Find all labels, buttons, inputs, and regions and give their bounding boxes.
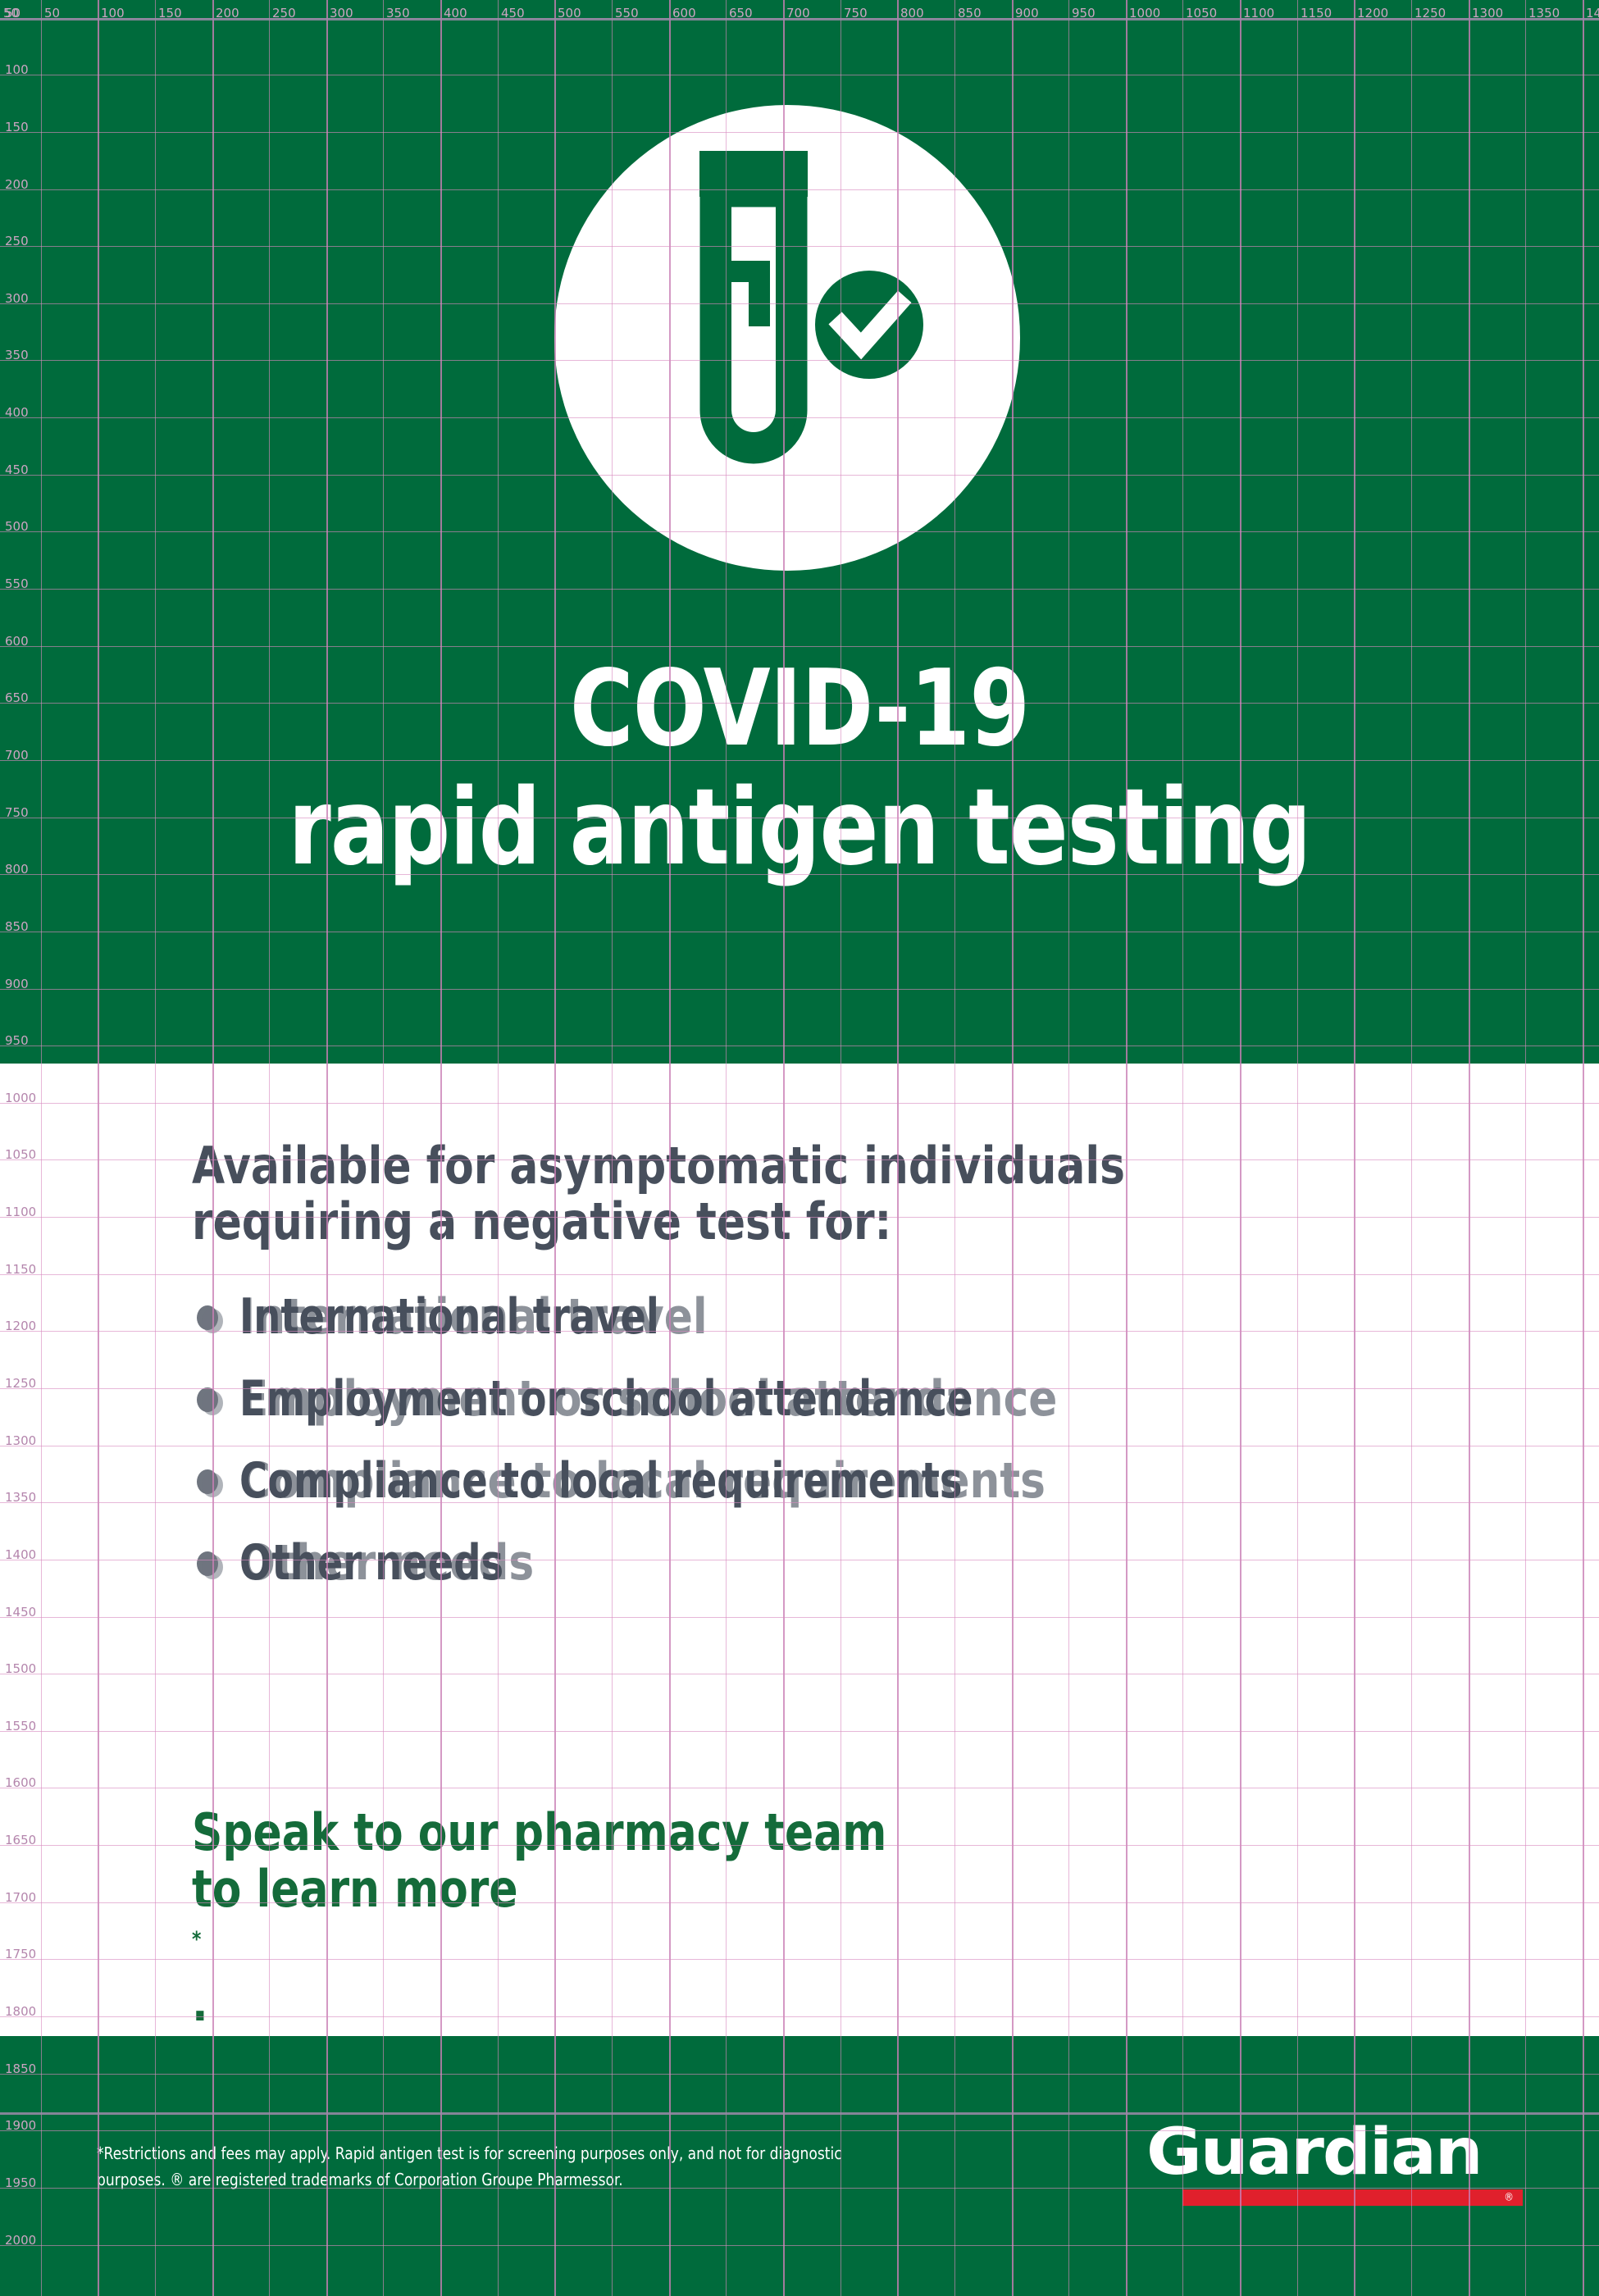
- lead-line-2: requiring a negative test for:: [192, 1194, 1412, 1250]
- list-item-ghost: Employment or school attendance: [239, 1374, 1057, 1424]
- bullet-dot-icon: [197, 1469, 218, 1494]
- headline-line-2: rapid antigen testing: [64, 775, 1535, 882]
- cta-period: .: [192, 1975, 886, 2031]
- list-item-text-wrap: International travelInternational travel: [239, 1292, 659, 1342]
- registered-mark-icon: ®: [1504, 2192, 1514, 2203]
- bullet-dot-icon: [197, 1387, 218, 1412]
- test-tube-with-check-badge-icon: [554, 105, 1020, 571]
- list-item: Other needsOther needs: [192, 1538, 1504, 1588]
- disclaimer-line-2: purposes. ® are registered trademarks of…: [97, 2166, 884, 2193]
- bullet-dot-icon: [197, 1551, 218, 1576]
- list-item-text-wrap: Other needsOther needs: [239, 1538, 503, 1588]
- cta-asterisk: *: [192, 1927, 201, 1952]
- list-item-text-wrap: Compliance to local requirementsComplian…: [239, 1456, 963, 1506]
- list-item: International travelInternational travel: [192, 1292, 1504, 1342]
- list-item-ghost: Compliance to local requirements: [239, 1456, 1045, 1506]
- poster-headline: COVID-19 rapid antigen testing: [64, 656, 1535, 881]
- needs-list: International travelInternational travel…: [192, 1292, 1504, 1588]
- lead-line-1: Available for asymptomatic individuals: [192, 1138, 1412, 1194]
- disclaimer-line-1: *Restrictions and fees may apply. Rapid …: [97, 2140, 884, 2166]
- brand-wordmark: Guardian: [1146, 2122, 1547, 2184]
- call-to-action: Speak to our pharmacy team to learn more…: [192, 1804, 886, 2032]
- list-item: Employment or school attendanceEmploymen…: [192, 1374, 1504, 1424]
- list-item: Compliance to local requirementsComplian…: [192, 1456, 1504, 1506]
- guardian-logo: Guardian ®: [1146, 2122, 1524, 2206]
- headline-line-1: COVID-19: [64, 656, 1535, 763]
- list-item-text-wrap: Employment or school attendanceEmploymen…: [239, 1374, 973, 1424]
- lead-paragraph: Available for asymptomatic individuals r…: [192, 1138, 1412, 1250]
- legal-disclaimer: *Restrictions and fees may apply. Rapid …: [97, 2140, 884, 2193]
- list-item-ghost: Other needs: [239, 1538, 534, 1588]
- poster-canvas: COVID-19 rapid antigen testing Available…: [0, 0, 1599, 2296]
- body-content: Available for asymptomatic individuals r…: [192, 1138, 1504, 1620]
- cta-line-1: Speak to our pharmacy team: [192, 1804, 886, 1861]
- cta-line-2-wrap: to learn more*.: [192, 1861, 886, 2031]
- cta-line-2: to learn more: [192, 1861, 886, 1917]
- list-item-ghost: International travel: [239, 1292, 708, 1342]
- bullet-dot-icon: [197, 1305, 218, 1330]
- brand-red-rule: ®: [1182, 2189, 1523, 2206]
